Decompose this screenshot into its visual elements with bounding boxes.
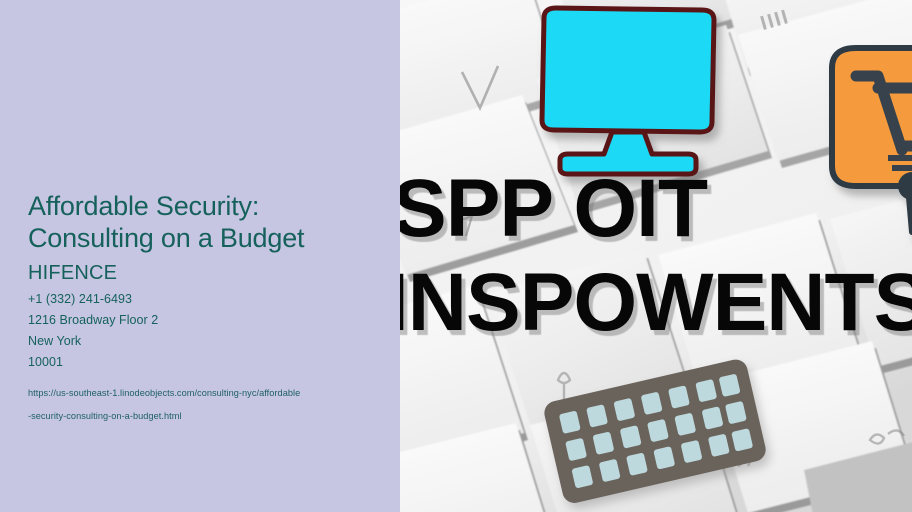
poster-canvas: Affordable Security: Consulting on a Bud… [0, 0, 912, 512]
address-street: 1216 Broadway Floor 2 [28, 310, 384, 331]
info-block: Affordable Security: Consulting on a Bud… [28, 190, 384, 428]
info-panel: Affordable Security: Consulting on a Bud… [0, 0, 400, 512]
photo-headline-line-2: INSPOWENTS [400, 262, 912, 344]
page-title: Affordable Security: Consulting on a Bud… [28, 190, 384, 254]
address-city: New York [28, 331, 384, 352]
address-zip: 10001 [28, 352, 384, 373]
keyboard-photo-illustration [400, 0, 912, 512]
url-line-1: https://us-southeast-1.linodeobjects.com… [28, 382, 384, 405]
company-name: HIFENCE [28, 261, 384, 285]
url-block: https://us-southeast-1.linodeobjects.com… [28, 382, 384, 428]
phone-number: +1 (332) 241-6493 [28, 289, 384, 310]
image-panel: SPP OIT INSPOWENTS [400, 0, 912, 512]
url-line-2: -security-consulting-on-a-budget.html [28, 405, 384, 428]
photo-headline-line-1: SPP OIT [400, 168, 707, 250]
